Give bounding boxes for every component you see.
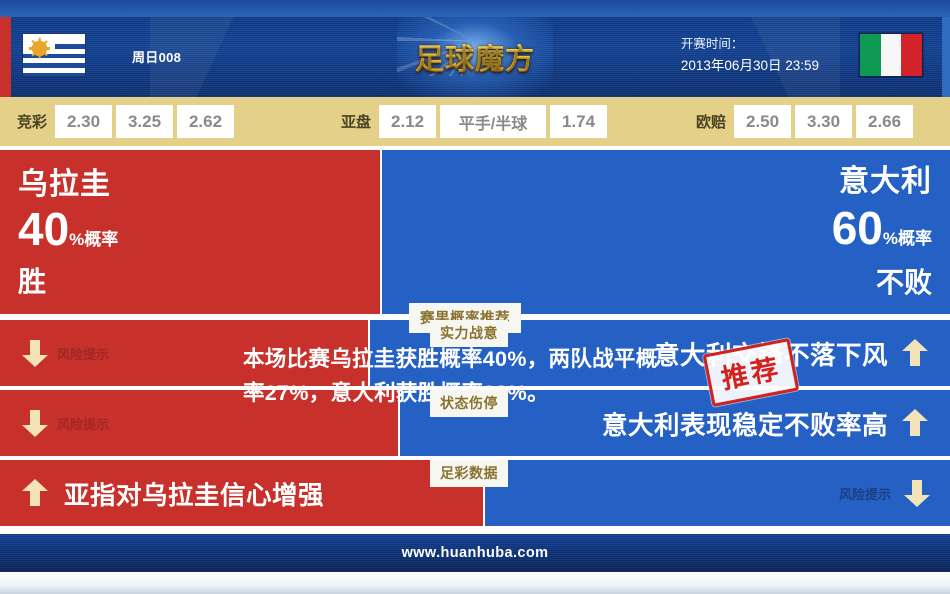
info-row-left-panel: 亚指对乌拉圭信心增强 — [0, 460, 483, 526]
insight-text: 亚指对乌拉圭信心增强 — [64, 475, 324, 512]
odds-value[interactable]: 2.12 — [379, 105, 436, 138]
odds-value[interactable]: 3.25 — [116, 105, 173, 138]
odds-group-jingcai: 竞彩 2.30 3.25 2.62 — [17, 105, 238, 138]
match-number: 周日008 — [132, 47, 181, 66]
logo-text: 足球魔方 — [397, 17, 553, 97]
header-accent-stripe-left — [0, 17, 11, 97]
arrow-down-icon — [904, 478, 930, 508]
tab-form-injuries[interactable]: 状态伤停 — [430, 390, 508, 417]
tab-lottery-data[interactable]: 足彩数据 — [430, 460, 508, 487]
prediction-card-page: 周日008 足球魔方 开赛时间： 2013年06月30日 23:59 竞彩 2.… — [0, 0, 950, 594]
odds-group-oupei: 欧赔 2.50 3.30 2.66 — [696, 105, 917, 138]
home-team-probability: 40%概率 — [18, 204, 118, 265]
site-url[interactable]: www.huanhuba.com — [402, 545, 549, 561]
risk-note-left: 风险提示 — [22, 338, 109, 368]
away-team-name: 意大利 — [832, 162, 932, 202]
uruguay-flag-icon — [22, 33, 86, 77]
arrow-down-icon — [22, 408, 48, 438]
arrow-up-icon — [902, 338, 928, 368]
arrow-down-icon — [22, 338, 48, 368]
info-row-right-panel: 风险提示 — [485, 460, 950, 526]
away-probability-value: 60 — [832, 202, 883, 254]
page-footer: www.huanhuba.com — [0, 534, 950, 572]
arrow-up-icon — [22, 478, 48, 508]
page-header: 周日008 足球魔方 开赛时间： 2013年06月30日 23:59 — [0, 0, 950, 97]
away-team-result: 不败 — [832, 265, 932, 301]
risk-note-right: 风险提示 — [839, 478, 930, 508]
odds-group-label: 亚盘 — [341, 111, 371, 132]
home-team-name: 乌拉圭 — [18, 166, 118, 204]
away-probability-unit: %概率 — [883, 229, 932, 248]
info-row: 亚指对乌拉圭信心增强 风险提示 足彩数据 — [0, 460, 950, 526]
odds-value[interactable]: 3.30 — [795, 105, 852, 138]
odds-value[interactable]: 2.50 — [734, 105, 791, 138]
kickoff-time: 开赛时间： 2013年06月30日 23:59 — [681, 34, 819, 76]
away-team-block: 意大利 60%概率 不败 — [832, 162, 932, 301]
page-bottom-gradient — [0, 572, 950, 594]
risk-note-label: 风险提示 — [839, 484, 891, 503]
insight-text: 意大利表现稳定不败率高 — [602, 405, 888, 442]
odds-value[interactable]: 2.66 — [856, 105, 913, 138]
arrow-up-icon — [902, 408, 928, 438]
away-team-probability: 60%概率 — [832, 202, 932, 265]
insight-text-block: 亚指对乌拉圭信心增强 — [22, 475, 324, 512]
italy-flag-icon — [859, 33, 923, 77]
risk-note-left: 风险提示 — [22, 408, 109, 438]
hero-probability-section: 乌拉圭 40%概率 胜 意大利 60%概率 不败 — [0, 150, 950, 314]
odds-group-label: 欧赔 — [696, 111, 726, 132]
site-logo[interactable]: 足球魔方 — [397, 17, 553, 97]
home-team-block: 乌拉圭 40%概率 胜 — [18, 166, 118, 299]
info-row: 风险提示 意大利表现稳定不败率高 状态伤停 — [0, 390, 950, 456]
kickoff-label: 开赛时间： — [681, 34, 819, 55]
header-accent-stripe-right — [942, 17, 950, 97]
insight-text-block: 意大利表现稳定不败率高 — [602, 405, 928, 442]
odds-value[interactable]: 2.62 — [177, 105, 234, 138]
risk-note-label: 风险提示 — [57, 414, 109, 433]
sun-of-may-icon — [33, 42, 46, 55]
odds-handicap[interactable]: 平手/半球 — [440, 105, 546, 138]
odds-group-yapan: 亚盘 2.12 平手/半球 1.74 — [341, 105, 611, 138]
odds-group-label: 竞彩 — [17, 111, 47, 132]
risk-note-label: 风险提示 — [57, 344, 109, 363]
prediction-board: 乌拉圭 40%概率 胜 意大利 60%概率 不败 赛果概率推荐 本场比赛乌拉圭获… — [0, 146, 950, 534]
kickoff-value: 2013年06月30日 23:59 — [681, 55, 819, 76]
home-probability-value: 40 — [18, 203, 69, 255]
home-probability-unit: %概率 — [69, 230, 118, 249]
tab-strength-intent[interactable]: 实力战意 — [430, 320, 508, 347]
odds-bar: 竞彩 2.30 3.25 2.62 亚盘 2.12 平手/半球 1.74 欧赔 … — [0, 97, 950, 146]
odds-value[interactable]: 2.30 — [55, 105, 112, 138]
odds-value[interactable]: 1.74 — [550, 105, 607, 138]
home-team-result: 胜 — [18, 265, 118, 299]
